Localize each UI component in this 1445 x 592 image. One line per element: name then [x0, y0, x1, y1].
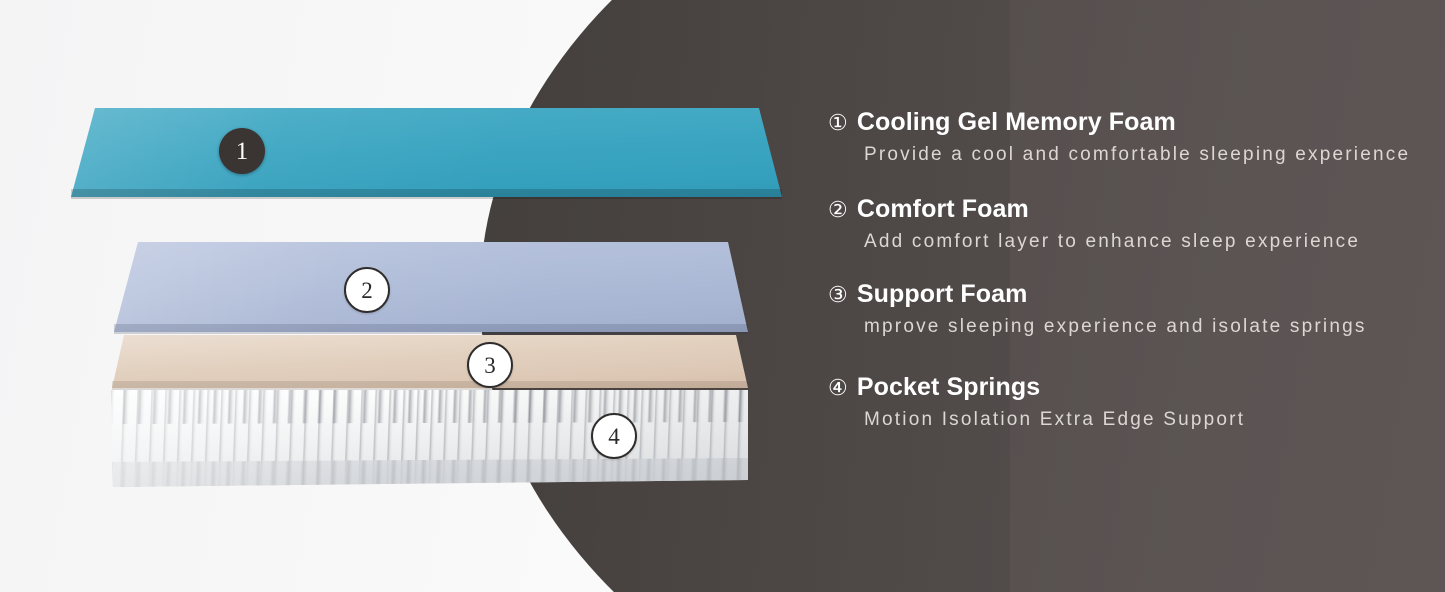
- mattress-layer-pocket-springs: [100, 388, 760, 492]
- layer-badge-2-label: 2: [361, 279, 373, 302]
- mattress-layer-stack: 1 2 3 4: [0, 0, 820, 592]
- layer-legend: ① Cooling Gel Memory Foam Provide a cool…: [828, 108, 1428, 431]
- legend-title-4: Pocket Springs: [857, 373, 1040, 402]
- mattress-layers-infographic: 1 2 3 4 ① Cooling Gel Memory Foam Provid…: [0, 0, 1445, 592]
- layer-badge-4: 4: [591, 413, 637, 459]
- legend-title-row-3: ③ Support Foam: [828, 280, 1428, 309]
- layer-badge-1-label: 1: [236, 139, 249, 164]
- circled-number-4-icon: ④: [828, 375, 848, 401]
- legend-item-comfort-foam: ② Comfort Foam Add comfort layer to enha…: [828, 195, 1428, 253]
- legend-title-2: Comfort Foam: [857, 195, 1029, 224]
- legend-description-3: mprove sleeping experience and isolate s…: [864, 316, 1428, 338]
- layer-badge-2: 2: [344, 267, 390, 313]
- layer-badge-1: 1: [219, 128, 265, 174]
- legend-item-support-foam: ③ Support Foam mprove sleeping experienc…: [828, 280, 1428, 338]
- circled-number-3-icon: ③: [828, 282, 848, 308]
- legend-description-2: Add comfort layer to enhance sleep exper…: [864, 231, 1428, 253]
- legend-description-1: Provide a cool and comfortable sleeping …: [864, 144, 1428, 166]
- legend-item-cooling-gel-memory-foam: ① Cooling Gel Memory Foam Provide a cool…: [828, 108, 1428, 166]
- layer-4-shading: [100, 388, 760, 492]
- layer-badge-3: 3: [467, 342, 513, 388]
- mattress-layer-support-foam: [100, 332, 760, 394]
- legend-description-4: Motion Isolation Extra Edge Support: [864, 409, 1428, 431]
- legend-title-row-1: ① Cooling Gel Memory Foam: [828, 108, 1428, 137]
- legend-title-3: Support Foam: [857, 280, 1028, 309]
- legend-title-row-4: ④ Pocket Springs: [828, 373, 1428, 402]
- mattress-layer-comfort-foam: [100, 238, 760, 340]
- circled-number-2-icon: ②: [828, 197, 848, 223]
- circled-number-1-icon: ①: [828, 110, 848, 136]
- mattress-layer-cooling-gel-memory-foam: [60, 104, 795, 204]
- layer-badge-3-label: 3: [484, 354, 496, 377]
- legend-title-row-2: ② Comfort Foam: [828, 195, 1428, 224]
- legend-item-pocket-springs: ④ Pocket Springs Motion Isolation Extra …: [828, 373, 1428, 431]
- legend-title-1: Cooling Gel Memory Foam: [857, 108, 1176, 137]
- layer-badge-4-label: 4: [608, 425, 620, 448]
